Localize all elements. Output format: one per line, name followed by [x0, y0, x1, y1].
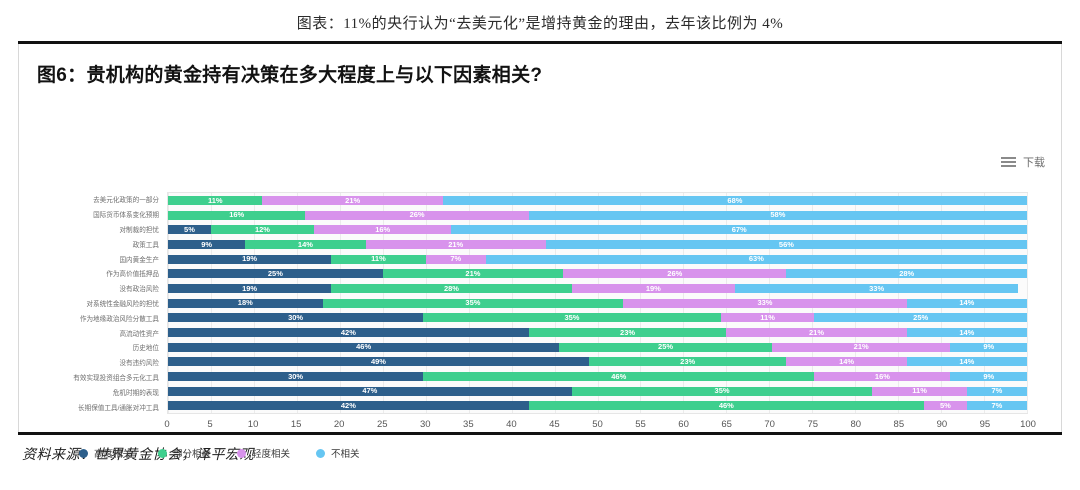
x-axis-tick: 25: [377, 419, 388, 430]
y-axis-label: 高流动性资产: [19, 325, 165, 340]
x-axis-tick: 95: [980, 419, 991, 430]
x-axis-tick: 65: [721, 419, 732, 430]
bar-segment[interactable]: 28%: [786, 269, 1027, 278]
bar-row[interactable]: 19%11%7%63%: [168, 252, 1027, 267]
legend-color-dot: [79, 449, 88, 458]
bar-segment[interactable]: 11%: [168, 196, 262, 205]
y-axis-label: 长期保值工具/通胀对冲工具: [19, 399, 165, 414]
bar-row[interactable]: 49%23%14%14%: [168, 354, 1027, 369]
bar-segment[interactable]: 11%: [721, 313, 815, 322]
bar-segment[interactable]: 21%: [726, 328, 906, 337]
bar-row[interactable]: 25%21%26%28%: [168, 266, 1027, 281]
bar-segment[interactable]: 26%: [305, 211, 528, 220]
bar-row[interactable]: 9%14%21%56%: [168, 237, 1027, 252]
bar-row[interactable]: 30%35%11%25%: [168, 310, 1027, 325]
x-axis-tick: 75: [807, 419, 818, 430]
bar-segment[interactable]: 33%: [623, 299, 906, 308]
bar-segment[interactable]: 46%: [168, 343, 559, 352]
bar-segment[interactable]: 14%: [786, 357, 906, 366]
legend-item[interactable]: 不相关: [316, 446, 360, 460]
x-axis-tick: 40: [506, 419, 517, 430]
legend-item[interactable]: 部分相关: [158, 446, 211, 460]
x-axis: 0510152025303540455055606570758085909510…: [167, 417, 1028, 435]
y-axis-label: 对系统性金融风险的担忧: [19, 296, 165, 311]
y-axis-label: 政策工具: [19, 236, 165, 251]
bar-segment[interactable]: 58%: [529, 211, 1027, 220]
bar-segment[interactable]: 12%: [211, 225, 314, 234]
bar-segment[interactable]: 23%: [529, 328, 727, 337]
y-axis-label: 作为高价值抵押品: [19, 266, 165, 281]
bar-segment[interactable]: 19%: [572, 284, 735, 293]
x-axis-tick: 85: [894, 419, 905, 430]
bar-row[interactable]: 18%35%33%14%: [168, 296, 1027, 311]
bar-segment[interactable]: 35%: [323, 299, 624, 308]
bar-segment[interactable]: 67%: [451, 225, 1027, 234]
figure-card: 图6：贵机构的黄金持有决策在多大程度上与以下因素相关? 下载 去美元化政策的一部…: [18, 44, 1062, 432]
bar-segment[interactable]: 16%: [814, 372, 950, 381]
bar-segment[interactable]: 30%: [168, 313, 423, 322]
y-axis-label: 没有违约风险: [19, 355, 165, 370]
legend-label: 部分相关: [173, 446, 211, 460]
x-axis-tick: 10: [248, 419, 259, 430]
x-axis-tick: 0: [164, 419, 169, 430]
legend-item[interactable]: 轻度相关: [237, 446, 290, 460]
download-label: 下载: [1023, 154, 1045, 170]
bar-segment[interactable]: 11%: [331, 255, 425, 264]
bar-row[interactable]: 30%46%16%9%: [168, 369, 1027, 384]
bar-row[interactable]: 47%35%11%7%: [168, 384, 1027, 399]
bar-segment[interactable]: 19%: [168, 255, 331, 264]
bar-row[interactable]: 19%28%19%33%: [168, 281, 1027, 296]
x-axis-tick: 20: [334, 419, 345, 430]
bar-rows: 11%21%68%16%26%58%5%12%16%67%9%14%21%56%…: [168, 193, 1027, 413]
bar-segment[interactable]: 46%: [529, 401, 924, 410]
x-axis-tick: 5: [207, 419, 212, 430]
bar-row[interactable]: 16%26%58%: [168, 208, 1027, 223]
x-axis-tick: 100: [1020, 419, 1036, 430]
bar-segment[interactable]: 16%: [168, 211, 305, 220]
bar-segment[interactable]: 21%: [383, 269, 563, 278]
bar-segment[interactable]: 11%: [872, 387, 966, 396]
bar-segment[interactable]: 42%: [168, 401, 529, 410]
bar-segment[interactable]: 56%: [546, 240, 1027, 249]
chart-legend: 高度相关部分相关轻度相关不相关: [79, 446, 360, 460]
x-axis-tick: 45: [549, 419, 560, 430]
x-axis-tick: 30: [420, 419, 431, 430]
bar-segment[interactable]: 33%: [735, 284, 1018, 293]
download-button[interactable]: 下载: [1001, 154, 1045, 170]
bar-segment[interactable]: 25%: [814, 313, 1027, 322]
legend-color-dot: [158, 449, 167, 458]
x-axis-tick: 55: [635, 419, 646, 430]
bar-segment[interactable]: 21%: [366, 240, 546, 249]
bar-segment[interactable]: 23%: [589, 357, 787, 366]
y-axis-label: 历史地位: [19, 340, 165, 355]
x-axis-tick: 60: [678, 419, 689, 430]
hamburger-menu-icon: [1001, 157, 1016, 167]
y-axis-label: 有效实现投资组合多元化工具: [19, 370, 165, 385]
y-axis-labels: 去美元化政策的一部分国际货币体系变化预期对制裁的担忧政策工具国内黄金生产作为高价…: [19, 192, 165, 414]
x-axis-tick: 35: [463, 419, 474, 430]
bar-segment[interactable]: 7%: [426, 255, 486, 264]
bar-row[interactable]: 42%46%5%7%: [168, 398, 1027, 413]
bar-segment[interactable]: 14%: [907, 299, 1027, 308]
bar-segment[interactable]: 63%: [486, 255, 1027, 264]
bar-segment[interactable]: 25%: [168, 269, 383, 278]
x-axis-tick: 90: [937, 419, 948, 430]
bar-segment[interactable]: 9%: [950, 343, 1027, 352]
bar-segment[interactable]: 30%: [168, 372, 423, 381]
legend-label: 轻度相关: [252, 446, 290, 460]
legend-label: 不相关: [331, 446, 360, 460]
bar-segment[interactable]: 21%: [262, 196, 442, 205]
bar-segment[interactable]: 26%: [563, 269, 786, 278]
y-axis-label: 去美元化政策的一部分: [19, 192, 165, 207]
bar-segment[interactable]: 19%: [168, 284, 331, 293]
x-axis-tick: 50: [592, 419, 603, 430]
x-axis-tick: 80: [851, 419, 862, 430]
bar-segment[interactable]: 14%: [907, 328, 1027, 337]
bar-segment[interactable]: 5%: [168, 225, 211, 234]
bar-segment[interactable]: 7%: [967, 387, 1027, 396]
y-axis-label: 危机时期的表现: [19, 384, 165, 399]
legend-color-dot: [237, 449, 246, 458]
bar-row[interactable]: 42%23%21%14%: [168, 325, 1027, 340]
y-axis-label: 作为地缘政治风险分散工具: [19, 310, 165, 325]
bar-segment[interactable]: 46%: [423, 372, 814, 381]
y-axis-label: 没有政治风险: [19, 281, 165, 296]
bar-segment[interactable]: 14%: [245, 240, 365, 249]
legend-color-dot: [316, 449, 325, 458]
bar-segment[interactable]: 5%: [924, 401, 967, 410]
bar-segment[interactable]: 9%: [950, 372, 1027, 381]
bar-segment[interactable]: 21%: [772, 343, 951, 352]
figure-title: 图6：贵机构的黄金持有决策在多大程度上与以下因素相关?: [19, 44, 1061, 87]
bar-segment[interactable]: 49%: [168, 357, 589, 366]
bar-segment[interactable]: 35%: [572, 387, 873, 396]
bar-segment[interactable]: 42%: [168, 328, 529, 337]
bar-segment[interactable]: 9%: [168, 240, 245, 249]
plot-area: 11%21%68%16%26%58%5%12%16%67%9%14%21%56%…: [167, 192, 1028, 414]
bar-segment[interactable]: 14%: [907, 357, 1027, 366]
y-axis-label: 国际货币体系变化预期: [19, 207, 165, 222]
bar-row[interactable]: 5%12%16%67%: [168, 222, 1027, 237]
figure-page: 图表：11%的央行认为“去美元化”是增持黄金的理由，去年该比例为 4% 图6：贵…: [0, 0, 1080, 490]
legend-item[interactable]: 高度相关: [79, 446, 132, 460]
x-axis-tick: 15: [291, 419, 302, 430]
y-axis-label: 对制裁的担忧: [19, 222, 165, 237]
page-caption: 图表：11%的央行认为“去美元化”是增持黄金的理由，去年该比例为 4%: [0, 0, 1080, 33]
x-axis-tick: 70: [764, 419, 775, 430]
bar-segment[interactable]: 18%: [168, 299, 323, 308]
bar-segment[interactable]: 68%: [443, 196, 1027, 205]
y-axis-label: 国内黄金生产: [19, 251, 165, 266]
stacked-bar-chart: 去美元化政策的一部分国际货币体系变化预期对制裁的担忧政策工具国内黄金生产作为高价…: [19, 184, 1061, 484]
bar-row[interactable]: 11%21%68%: [168, 193, 1027, 208]
bar-row[interactable]: 46%25%21%9%: [168, 340, 1027, 355]
legend-label: 高度相关: [94, 446, 132, 460]
bar-segment[interactable]: 35%: [423, 313, 721, 322]
bar-segment[interactable]: 28%: [331, 284, 572, 293]
bar-segment[interactable]: 25%: [559, 343, 772, 352]
bar-segment[interactable]: 47%: [168, 387, 572, 396]
bar-segment[interactable]: 7%: [967, 401, 1027, 410]
bar-segment[interactable]: 16%: [314, 225, 451, 234]
